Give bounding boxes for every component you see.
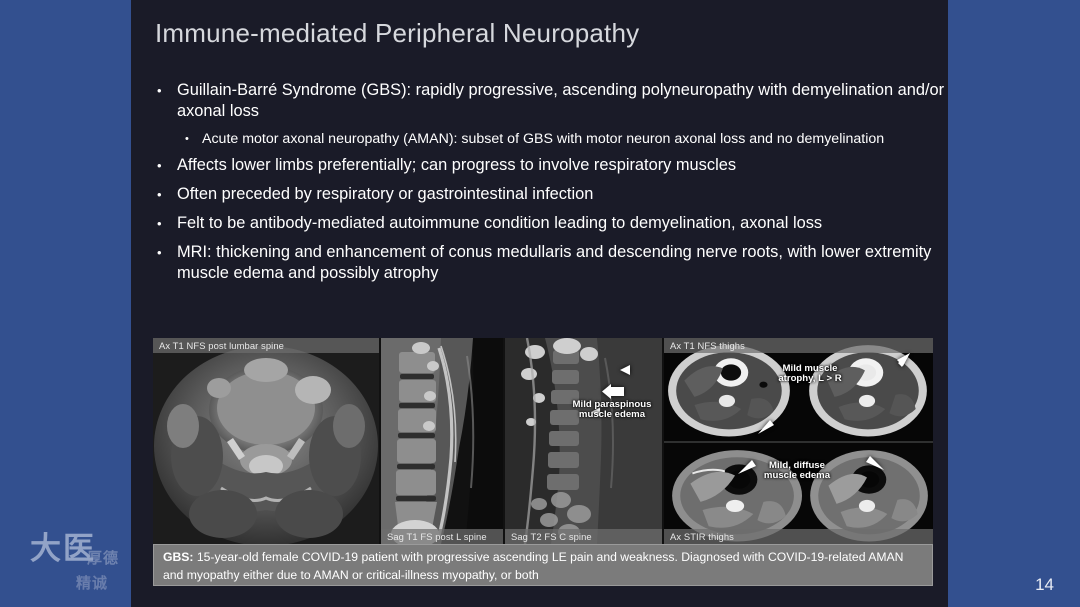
watermark-sub-text-2: 精诚 xyxy=(76,572,108,593)
mri-panel-sag-t2-fs-c-spine: Mild paraspinous muscle edema Sag T2 FS … xyxy=(505,338,662,544)
annotation-paraspinous-edema: Mild paraspinous muscle edema xyxy=(565,400,659,421)
arrow-icon xyxy=(756,416,776,436)
slide-canvas: Immune-mediated Peripheral Neuropathy • … xyxy=(131,0,948,607)
mri-figure: Ax T1 NFS post lumbar spine xyxy=(153,338,933,586)
bullet-text: Acute motor axonal neuropathy (AMAN): su… xyxy=(202,130,945,148)
mri-image-axial-lumbar xyxy=(153,338,379,544)
bullet-item: • Often preceded by respiratory or gastr… xyxy=(155,184,945,205)
slide-number: 14 xyxy=(1035,575,1054,595)
presentation-viewer: 大医 厚德 精诚 14 Immune-mediated Peripheral N… xyxy=(0,0,1080,607)
bullet-text: MRI: thickening and enhancement of conus… xyxy=(177,242,945,284)
panel-label: Ax STIR thighs xyxy=(664,529,933,544)
bullet-marker-icon: • xyxy=(185,130,202,148)
panel-label: Sag T2 FS C spine xyxy=(505,529,662,544)
annotation-muscle-atrophy: Mild muscle atrophy, L > R xyxy=(768,364,852,385)
watermark-sub-text-1: 厚德 xyxy=(87,547,119,568)
bullet-text: Affects lower limbs preferentially; can … xyxy=(177,155,945,176)
mri-panel-sag-t1-fs-post-l-spine: Sag T1 FS post L spine xyxy=(381,338,503,544)
arrowhead-icon xyxy=(617,363,631,377)
mri-panel-row: Ax T1 NFS post lumbar spine xyxy=(153,338,933,544)
mri-panel-ax-t1-nfs-post-lumbar-spine: Ax T1 NFS post lumbar spine xyxy=(153,338,379,544)
figure-caption: GBS: 15-year-old female COVID-19 patient… xyxy=(153,544,933,586)
arrow-icon xyxy=(601,384,625,400)
bullet-item: • Affects lower limbs preferentially; ca… xyxy=(155,155,945,176)
bullet-list: • Guillain-Barré Syndrome (GBS): rapidly… xyxy=(155,80,945,292)
mri-image-sagittal-lumbar xyxy=(381,338,503,544)
bullet-marker-icon: • xyxy=(157,155,177,176)
slide-title: Immune-mediated Peripheral Neuropathy xyxy=(155,18,639,49)
bullet-item: • Felt to be antibody-mediated autoimmun… xyxy=(155,213,945,234)
mri-panel-ax-stir-thighs: Mild, diffuse muscle edema Ax STIR thigh… xyxy=(664,441,933,544)
bullet-text: Often preceded by respiratory or gastroi… xyxy=(177,184,945,205)
caption-prefix: GBS: xyxy=(163,550,193,564)
caption-text: 15-year-old female COVID-19 patient with… xyxy=(163,550,903,582)
bullet-item: • Guillain-Barré Syndrome (GBS): rapidly… xyxy=(155,80,945,122)
bullet-item: • MRI: thickening and enhancement of con… xyxy=(155,242,945,284)
arrow-icon xyxy=(864,453,886,473)
bullet-marker-icon: • xyxy=(157,80,177,101)
bullet-marker-icon: • xyxy=(157,184,177,205)
arrow-icon xyxy=(892,351,912,371)
mri-panel-ax-t1-nfs-thighs: Mild muscle atrophy, L > R Ax T1 NFS thi… xyxy=(664,338,933,441)
panel-label: Ax T1 NFS post lumbar spine xyxy=(153,338,379,353)
mri-panel-thighs-group: Mild muscle atrophy, L > R Ax T1 NFS thi… xyxy=(664,338,933,544)
panel-label: Sag T1 FS post L spine xyxy=(381,529,503,544)
bullet-marker-icon: • xyxy=(157,242,177,263)
bullet-item-sub: • Acute motor axonal neuropathy (AMAN): … xyxy=(155,130,945,148)
bullet-marker-icon: • xyxy=(157,213,177,234)
annotation-muscle-edema: Mild, diffuse muscle edema xyxy=(752,461,842,482)
bullet-text: Guillain-Barré Syndrome (GBS): rapidly p… xyxy=(177,80,945,122)
bullet-text: Felt to be antibody-mediated autoimmune … xyxy=(177,213,945,234)
mri-image-sagittal-cervical xyxy=(505,338,662,544)
